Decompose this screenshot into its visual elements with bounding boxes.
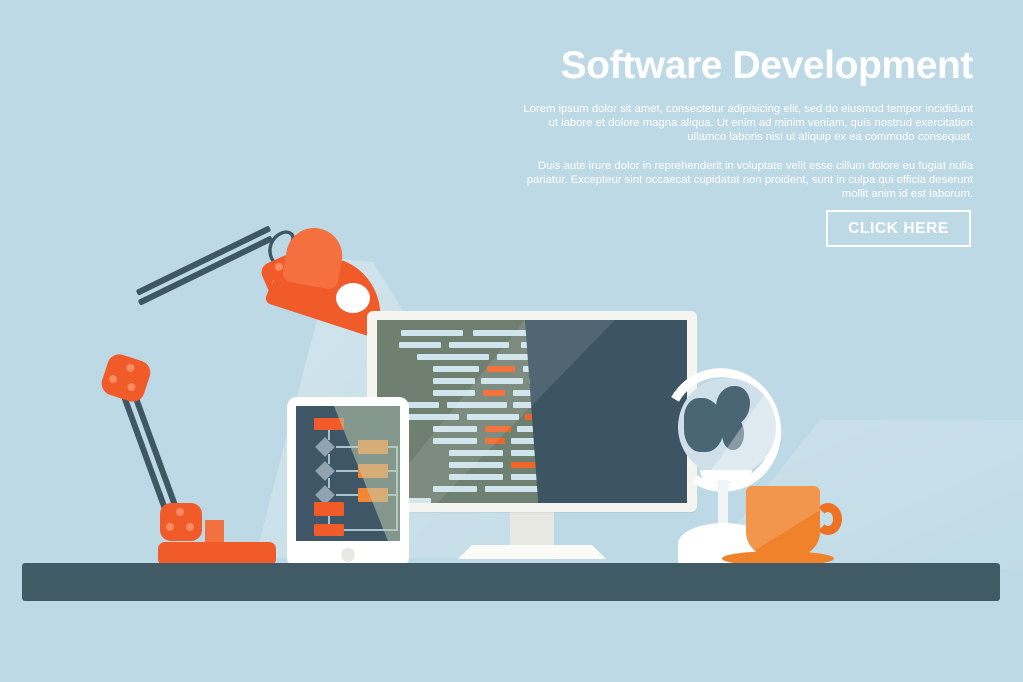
flow-process xyxy=(314,502,344,516)
code-line-segment xyxy=(399,342,441,348)
flow-end xyxy=(314,524,344,536)
monitor-stand-foot xyxy=(458,545,606,559)
flow-decision-1 xyxy=(315,437,335,457)
illustration-stage: Software Development Lorem ipsum dolor s… xyxy=(0,0,1023,682)
globe-pole xyxy=(718,480,728,525)
flow-connector xyxy=(328,478,330,488)
lamp-elbow-joint xyxy=(99,351,154,405)
body-paragraph-2: Duis aute irure dolor in reprehenderit i… xyxy=(523,159,973,202)
tablet-screen xyxy=(296,406,400,541)
desk-surface xyxy=(22,563,1000,601)
page-title: Software Development xyxy=(523,44,973,88)
flow-connector xyxy=(336,470,358,472)
cup-body xyxy=(746,486,820,556)
code-line-segment xyxy=(449,342,509,348)
lamp-upper-arm-a xyxy=(136,225,272,295)
tablet-light-overlay xyxy=(296,406,400,541)
flow-connector xyxy=(328,516,330,524)
monitor-screen xyxy=(377,320,687,503)
flow-connector xyxy=(328,454,330,464)
code-line-segment xyxy=(433,366,479,372)
globe-sphere xyxy=(678,378,776,476)
flow-start xyxy=(314,418,344,430)
flow-connector xyxy=(336,494,358,496)
flow-decision-2 xyxy=(315,461,335,481)
code-line-segment xyxy=(401,330,463,336)
code-line-segment xyxy=(417,354,489,360)
click-here-button[interactable]: CLICK HERE xyxy=(826,210,971,247)
tablet-home-button[interactable] xyxy=(341,548,355,562)
cup-highlight xyxy=(746,486,820,556)
lamp-upper-arm-b xyxy=(138,235,274,305)
monitor-stand-neck xyxy=(510,511,554,547)
flow-connector xyxy=(328,430,330,440)
header-text-block: Software Development Lorem ipsum dolor s… xyxy=(523,44,973,201)
code-line-segment xyxy=(433,378,475,384)
body-paragraph-1: Lorem ipsum dolor sit amet, consectetur … xyxy=(523,102,973,145)
lamp-lower-arm-a xyxy=(118,387,172,522)
lamp-bulb-icon xyxy=(336,283,370,313)
lamp-base-joint xyxy=(160,503,202,541)
